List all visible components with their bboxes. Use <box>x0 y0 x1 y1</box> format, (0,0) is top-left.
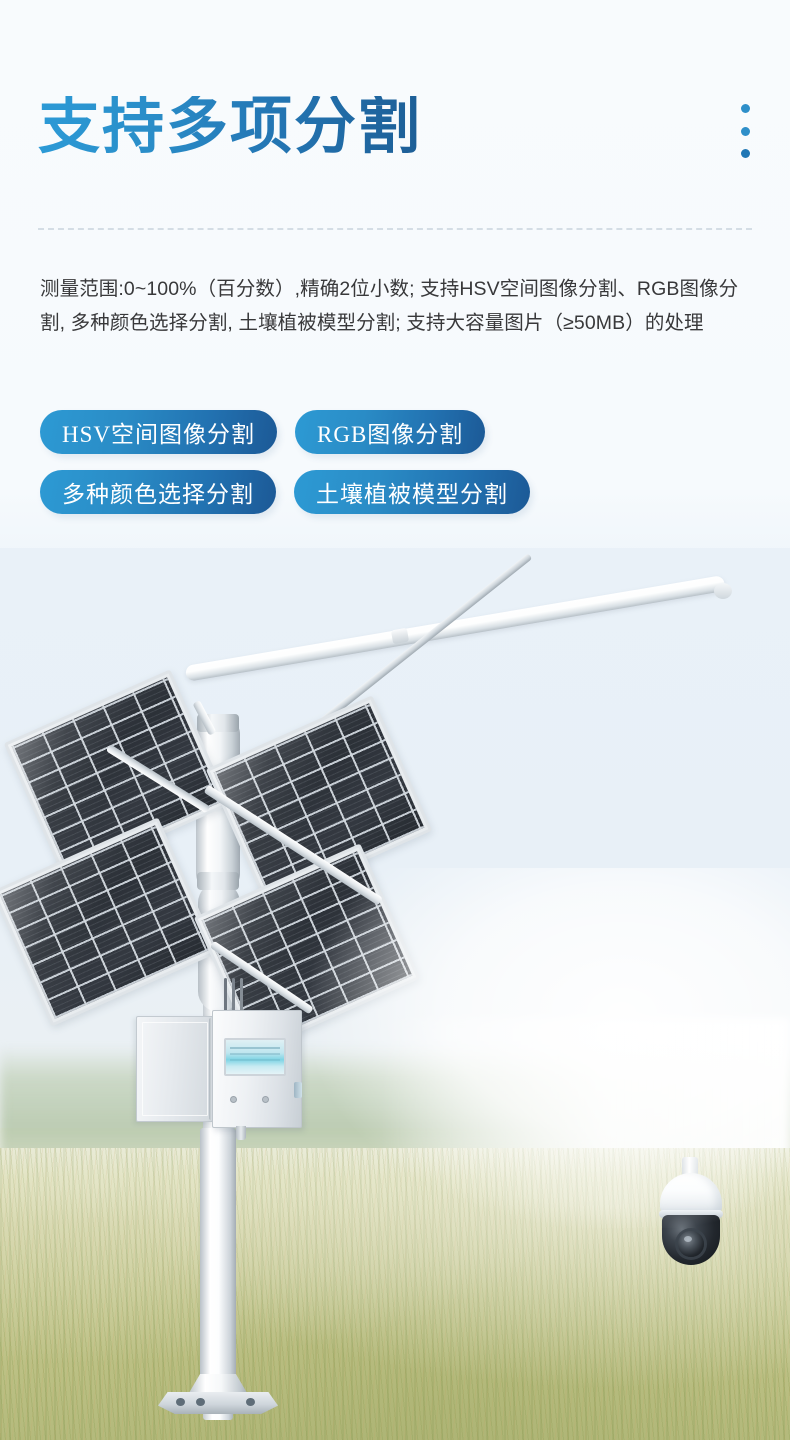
pole-collar-mid <box>197 872 239 890</box>
header-divider <box>38 228 752 230</box>
more-vertical-icon[interactable] <box>734 104 756 158</box>
boom-strut-joint <box>391 628 409 645</box>
spec-description: 测量范围:0~100%（百分数）,精确2位小数; 支持HSV空间图像分割、RGB… <box>40 272 756 340</box>
product-detail-page: 支持多项分割 测量范围:0~100%（百分数）,精确2位小数; 支持HSV空间图… <box>0 0 790 1440</box>
feature-tag-hsv-segmentation[interactable]: HSV空间图像分割 <box>40 410 277 454</box>
feature-tag-multicolor-segmentation[interactable]: 多种颜色选择分割 <box>40 470 276 514</box>
menu-dot-3 <box>741 149 750 158</box>
menu-dot-2 <box>741 127 750 136</box>
page-header: 支持多项分割 <box>0 0 790 248</box>
feature-tag-soil-vegetation-segmentation[interactable]: 土壤植被模型分割 <box>294 470 530 514</box>
solar-cells <box>0 825 210 1018</box>
lcd-scanlines <box>230 1047 280 1049</box>
base-bolt <box>176 1398 185 1406</box>
feature-tag-list: HSV空间图像分割 RGB图像分割 多种颜色选择分割 土壤植被模型分割 <box>40 410 740 530</box>
base-bolt <box>196 1398 205 1406</box>
feature-tag-row-2: 多种颜色选择分割 土壤植被模型分割 <box>40 470 740 514</box>
cabinet-knob <box>230 1096 237 1103</box>
cabinet-cable-gland <box>236 1126 246 1140</box>
cabinet-knob <box>262 1096 269 1103</box>
boom-arm-end-cap <box>714 583 732 599</box>
menu-dot-1 <box>741 104 750 113</box>
lcd-display <box>224 1038 286 1076</box>
base-bolt <box>246 1398 255 1406</box>
cabinet-door <box>136 1016 214 1122</box>
page-title: 支持多项分割 <box>38 96 422 158</box>
cabinet-latch <box>294 1082 302 1098</box>
support-pole-lower <box>200 1128 236 1390</box>
product-photo <box>0 548 790 1440</box>
camera-housing <box>660 1173 722 1213</box>
monitoring-station-rig <box>0 548 790 1440</box>
feature-tag-row-1: HSV空间图像分割 RGB图像分割 <box>40 410 740 454</box>
boom-arm <box>185 575 726 682</box>
camera-lens <box>678 1231 704 1257</box>
feature-tag-rgb-segmentation[interactable]: RGB图像分割 <box>295 410 485 454</box>
solar-panel <box>0 817 218 1026</box>
